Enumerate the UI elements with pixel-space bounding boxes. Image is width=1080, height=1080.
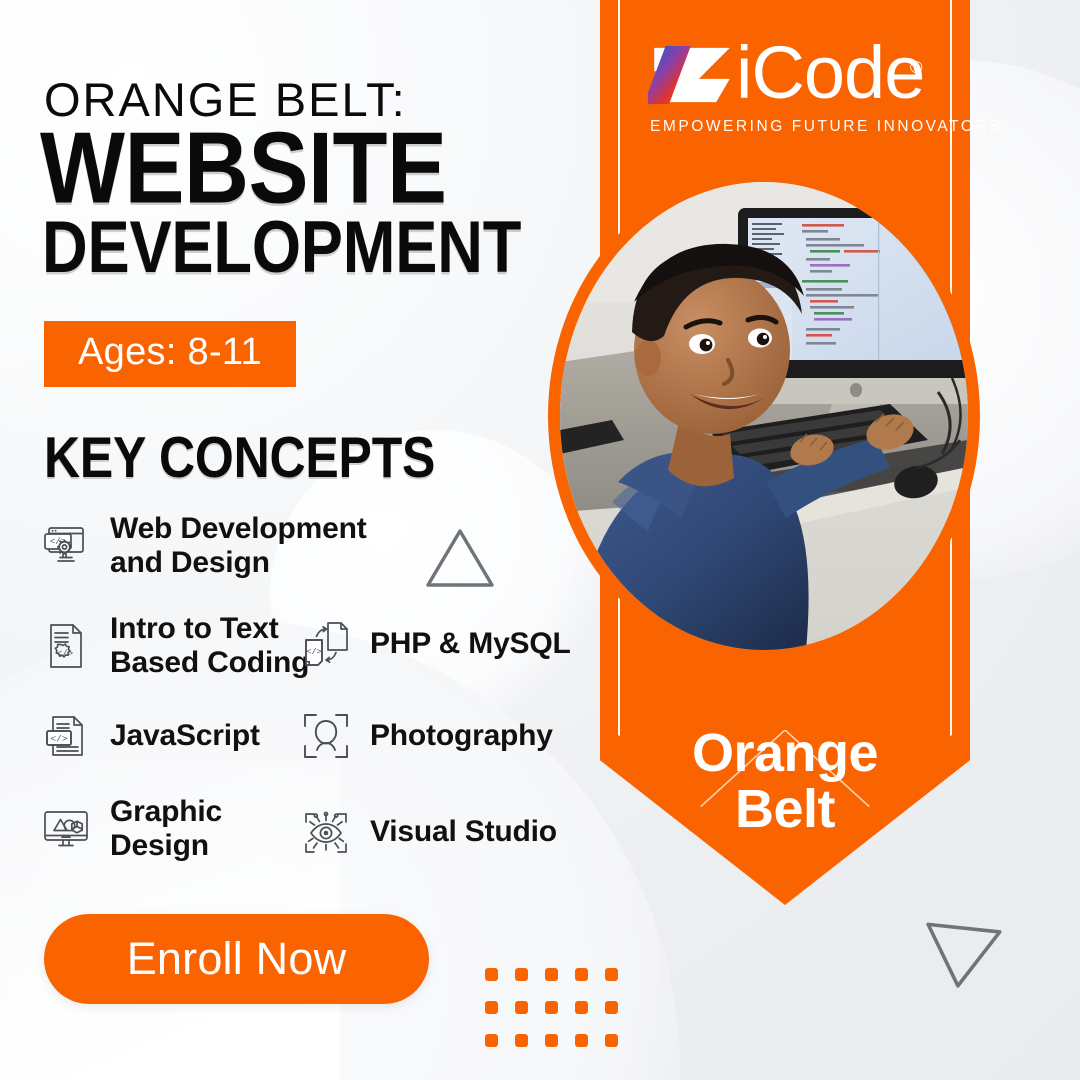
svg-text:</>: </> xyxy=(50,734,67,745)
concept-item-photography: Photography xyxy=(300,710,553,762)
student-photo-illustration xyxy=(560,182,968,650)
concept-item-intro-text-coding: </> Intro to Text Based Coding xyxy=(40,612,309,680)
icode-tagline: EMPOWERING FUTURE INNOVATORS xyxy=(650,118,1002,136)
key-concepts-heading: KEY CONCEPTS xyxy=(44,424,435,491)
concept-label: PHP & MySQL xyxy=(370,627,571,661)
concept-item-graphic-design: Graphic Design xyxy=(40,795,222,863)
concept-label: Graphic Design xyxy=(110,795,222,863)
triangle-outline-down-icon xyxy=(916,916,1005,996)
svg-text:</>: </> xyxy=(306,647,321,657)
document-gear-code-icon: </> xyxy=(40,620,92,672)
page-title-line1: WEBSITE xyxy=(40,122,447,218)
documents-code-icon: </> xyxy=(40,710,92,762)
registered-mark: ® xyxy=(910,58,923,78)
promo-poster: ORANGE BELT: WEBSITE DEVELOPMENT Ages: 8… xyxy=(0,0,1080,1080)
triangle-outline-up-icon xyxy=(424,527,496,589)
icode-wordmark: iCode xyxy=(736,36,924,110)
page-title-line2: DEVELOPMENT xyxy=(42,212,521,285)
portrait-focus-frame-icon xyxy=(300,710,352,762)
ages-badge: Ages: 8-11 xyxy=(44,321,296,387)
concept-item-php-mysql: </> PHP & MySQL xyxy=(300,618,571,670)
file-transfer-code-icon: </> xyxy=(300,618,352,670)
eye-circuit-icon xyxy=(300,806,352,858)
concept-label: Intro to Text Based Coding xyxy=(110,612,309,680)
dot-grid-decoration xyxy=(485,968,635,1067)
concept-item-javascript: </> JavaScript xyxy=(40,710,260,762)
monitor-shapes-icon xyxy=(40,803,92,855)
icode-mark-shape xyxy=(648,46,730,104)
svg-text:</>: </> xyxy=(57,649,73,659)
concept-item-visual-studio: Visual Studio xyxy=(300,806,557,858)
concept-label: JavaScript xyxy=(110,719,260,753)
concept-item-web-development: </> Web Development and Design xyxy=(40,512,367,580)
concept-label: Photography xyxy=(370,719,553,753)
student-photo xyxy=(560,182,968,650)
belt-label: Orange Belt xyxy=(618,726,952,837)
concept-label: Web Development and Design xyxy=(110,512,367,580)
icode-logo: iCode ® EMPOWERING FUTURE INNOVATORS xyxy=(648,42,930,134)
concept-label: Visual Studio xyxy=(370,815,557,849)
monitor-code-gear-icon: </> xyxy=(40,520,92,572)
enroll-now-button[interactable]: Enroll Now xyxy=(44,914,429,1004)
